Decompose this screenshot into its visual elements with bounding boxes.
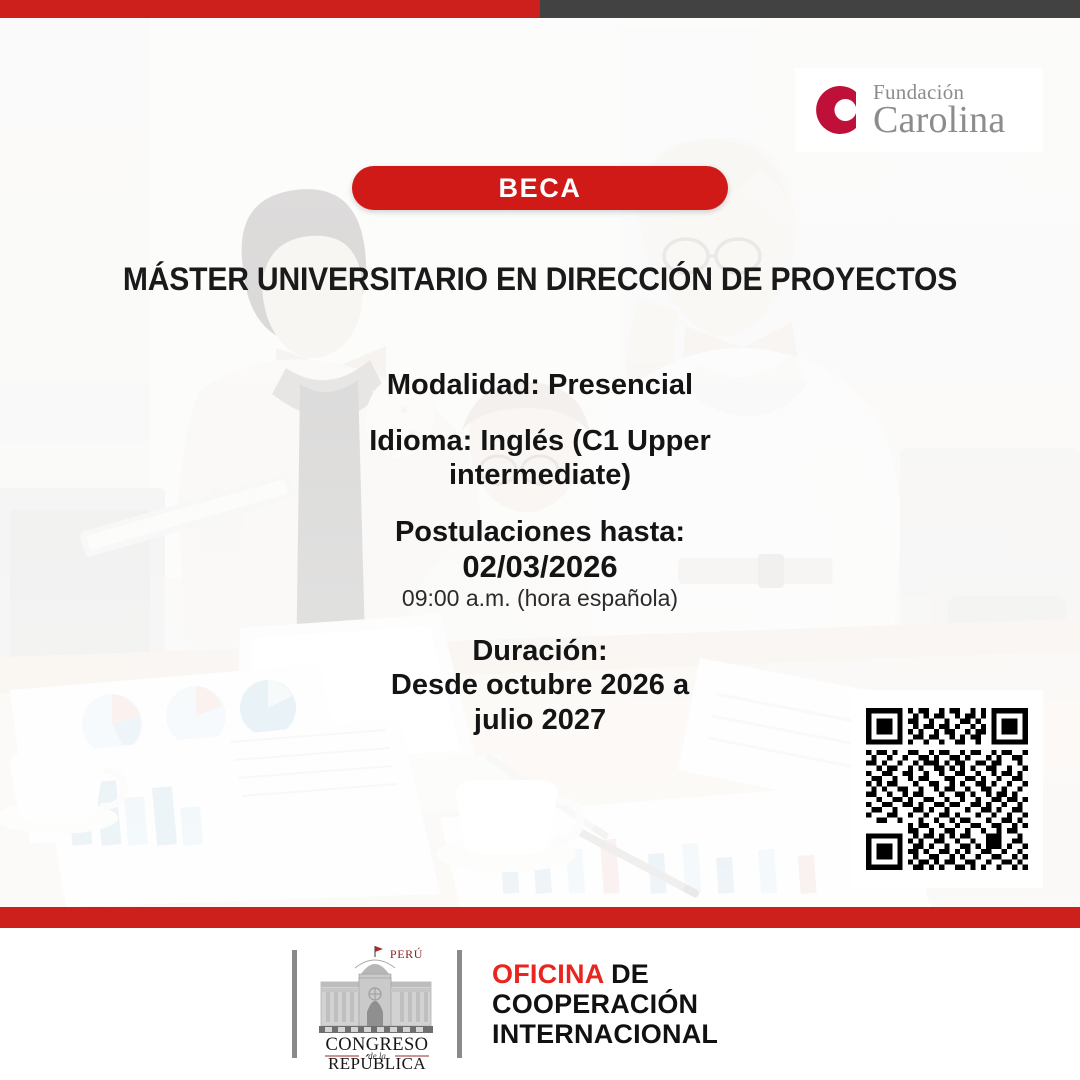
office-word-oficina: OFICINA <box>492 959 603 989</box>
footer: PERÚ <box>0 928 1080 1080</box>
detail-idioma: Idioma: Inglés (C1 Upper intermediate) <box>0 424 1080 492</box>
fundacion-carolina-logo: Fundación Carolina <box>795 68 1043 152</box>
detail-postulaciones-time: 09:00 a.m. (hora española) <box>0 585 1080 613</box>
footer-inner: PERÚ <box>292 938 718 1070</box>
detail-postulaciones-label: Postulaciones hasta: <box>0 515 1080 549</box>
bottom-red-bar <box>0 907 1080 928</box>
office-name-block: OFICINA DE COOPERACIÓN INTERNACIONAL <box>492 959 718 1050</box>
congreso-republica-peru-emblem: PERÚ <box>311 938 443 1070</box>
detail-modalidad: Modalidad: Presencial <box>0 368 1080 402</box>
footer-divider-left <box>292 950 297 1058</box>
top-bar-dark-segment <box>540 0 1080 18</box>
top-bar <box>0 0 1080 18</box>
carolina-wordmark: Fundación Carolina <box>873 82 1005 139</box>
office-line-3: INTERNACIONAL <box>492 1019 718 1049</box>
top-bar-red-segment <box>0 0 540 18</box>
detail-modalidad-line-1: Modalidad: Presencial <box>0 368 1080 402</box>
office-line-1: OFICINA DE <box>492 959 718 989</box>
emblem-peru-label: PERÚ <box>390 947 423 961</box>
page-title: MÁSTER UNIVERSITARIO EN DIRECCIÓN DE PRO… <box>32 261 1047 298</box>
emblem-republica-label: REPÚBLICA <box>328 1054 426 1070</box>
qr-code[interactable] <box>851 690 1043 888</box>
office-line-2: COOPERACIÓN <box>492 989 718 1019</box>
detail-postulaciones-date: 02/03/2026 <box>0 549 1080 585</box>
beca-badge-label: BECA <box>499 173 582 204</box>
beca-badge: BECA <box>352 166 728 210</box>
detail-duracion-label: Duración: <box>0 634 1080 668</box>
footer-divider-right <box>457 950 462 1058</box>
carolina-line-carolina: Carolina <box>873 101 1005 139</box>
detail-postulaciones: Postulaciones hasta: 02/03/2026 09:00 a.… <box>0 515 1080 612</box>
office-word-de: DE <box>603 959 649 989</box>
detail-idioma-line-1: Idioma: Inglés (C1 Upper <box>0 424 1080 458</box>
poster: Fundación Carolina BECA MÁSTER UNIVERSIT… <box>0 0 1080 1080</box>
detail-idioma-line-2: intermediate) <box>0 458 1080 492</box>
carolina-c-icon <box>801 79 863 141</box>
poster-content: Fundación Carolina BECA MÁSTER UNIVERSIT… <box>0 18 1080 907</box>
